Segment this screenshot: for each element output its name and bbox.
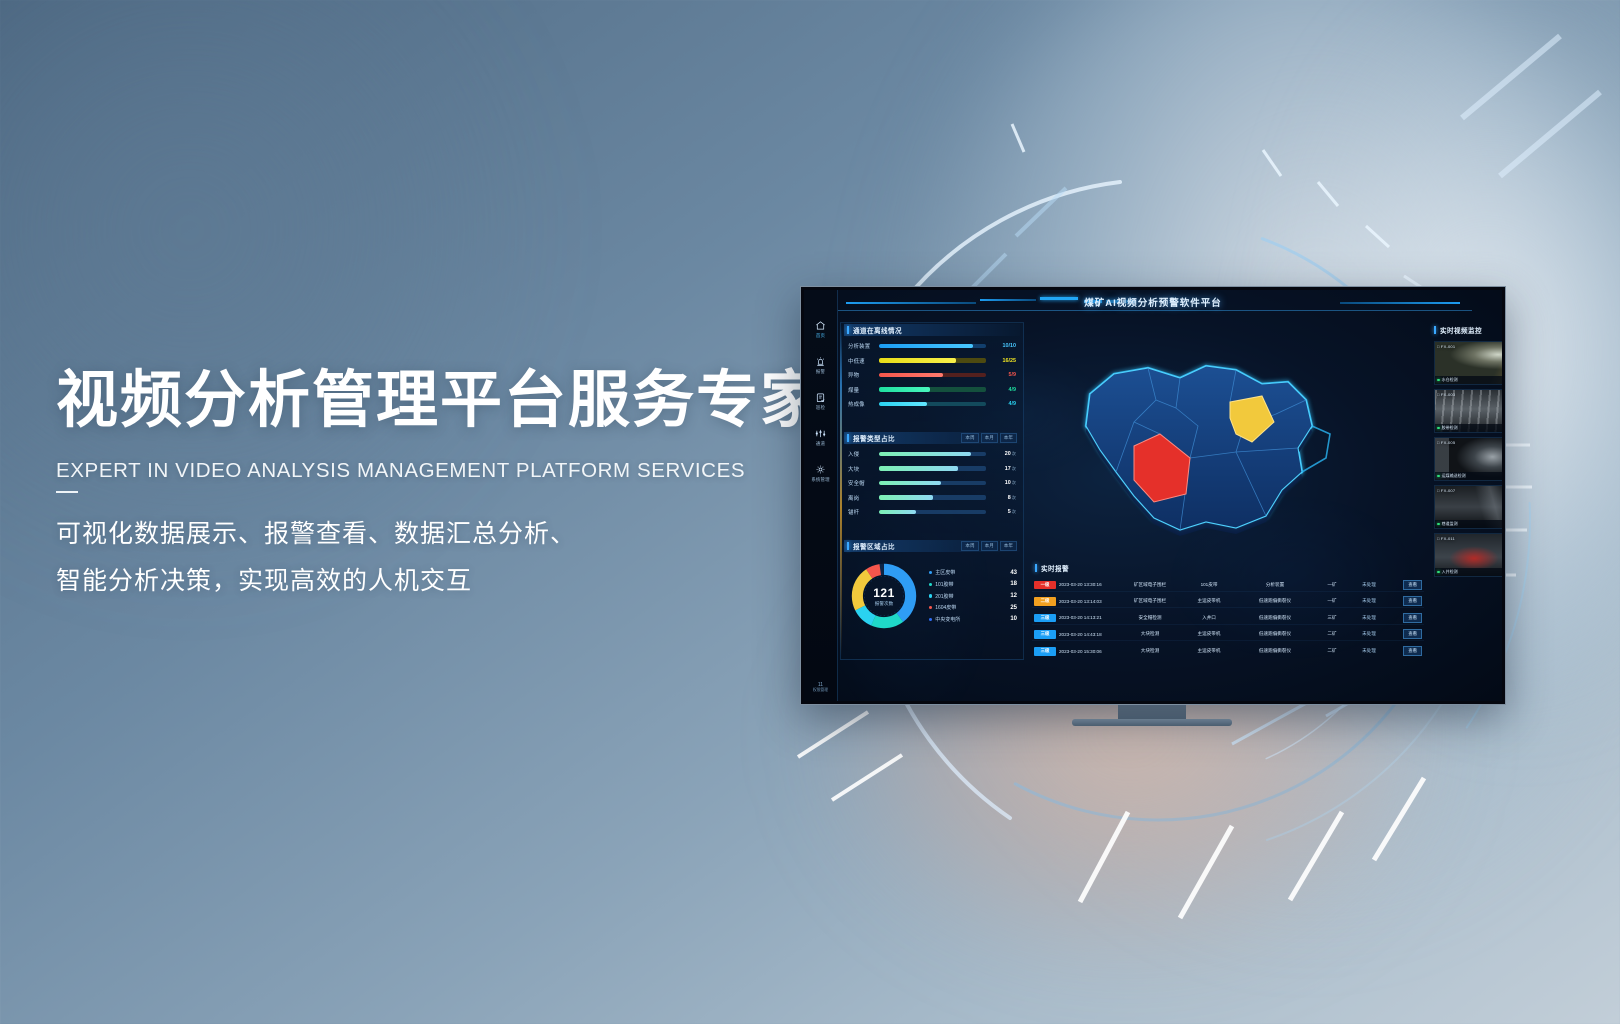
table-row[interactable]: 三级 2023-03-20 14:43:18 大块检测 主运皮带机 低速跑偏撕裂… bbox=[1032, 629, 1424, 642]
panel-accent-bar bbox=[847, 542, 849, 550]
channel-rows: 分析装置 10/10 中低速 16/25 异物 5/9 煤量 4/9 热成像 bbox=[844, 336, 1020, 410]
panel-live-video: 实时视频监控 上一页 下一页 □ FX-001 水仓检测 15:20:30 bbox=[1434, 324, 1502, 577]
alarm-mine: 二矿 bbox=[1315, 631, 1349, 637]
channel-row: 分析装置 10/10 bbox=[848, 342, 1016, 350]
legend-item: 主区皮带 43 bbox=[929, 569, 1017, 576]
alarm-time: 2023-03-20 14:13:21 bbox=[1059, 615, 1117, 620]
panel-alarm-type-ratio: 报警类型占比 本周 本月 本年 入侵 20次 大块 17次 安全帽 10次 bbox=[844, 432, 1020, 518]
table-row[interactable]: 一级 2023-03-20 13:30:16 矿区域电子围栏 101皮带 分析装… bbox=[1032, 579, 1424, 592]
sidebar-item-inspection[interactable]: 巡检 bbox=[815, 392, 826, 411]
panel-accent-bar bbox=[1035, 564, 1037, 572]
alarm-device: 低速跑偏撕裂仪 bbox=[1238, 615, 1312, 621]
alarm-time: 2023-03-20 15:30:06 bbox=[1059, 649, 1117, 654]
video-name: 运煤输送检测 bbox=[1442, 473, 1466, 479]
alarm-time: 2023-03-20 13:14:03 bbox=[1059, 599, 1117, 604]
alarm-state: 未处理 bbox=[1352, 582, 1386, 588]
dashboard-sidebar[interactable]: 首页 报警 巡检 通道 系统管理 11 bbox=[804, 290, 838, 701]
legend-dot bbox=[929, 594, 932, 597]
row-label: 煤量 bbox=[848, 386, 875, 394]
alarm-time: 2023-03-20 13:30:16 bbox=[1059, 582, 1117, 587]
progress-track bbox=[879, 510, 986, 515]
row-value: 10次 bbox=[990, 480, 1016, 486]
sidebar-item-system[interactable]: 系统管理 bbox=[811, 464, 829, 483]
legend-value: 10 bbox=[1010, 616, 1017, 622]
alarm-table: 一级 2023-03-20 13:30:16 矿区域电子围栏 101皮带 分析装… bbox=[1032, 574, 1424, 658]
legend-dot bbox=[929, 606, 932, 609]
panel-title: 通道在离线情况 bbox=[853, 325, 902, 335]
legend-label: 中央变电所 bbox=[935, 616, 1007, 623]
video-tag: □ FX-005 bbox=[1437, 440, 1455, 445]
video-tile[interactable]: □ FX-001 水仓检测 15:20:30 bbox=[1434, 341, 1502, 385]
video-tag: □ FX-003 bbox=[1437, 392, 1455, 397]
legend-item: 201胶带 12 bbox=[929, 593, 1017, 600]
row-label: 大块 bbox=[848, 465, 875, 473]
alarm-device: 低速跑偏撕裂仪 bbox=[1238, 598, 1312, 604]
sidebar-item-label: 系统管理 bbox=[811, 477, 829, 483]
alarm-location: 主运皮带机 bbox=[1183, 648, 1235, 654]
alarm-location: 101皮带 bbox=[1183, 582, 1235, 588]
panel-accent-bar bbox=[847, 326, 849, 334]
video-tag: □ FX-011 bbox=[1437, 536, 1455, 541]
row-value: 8次 bbox=[990, 495, 1016, 501]
tab-week[interactable]: 本周 bbox=[961, 433, 978, 443]
sidebar-item-label: 通道 bbox=[816, 441, 825, 447]
tab-year[interactable]: 本年 bbox=[1000, 433, 1017, 443]
legend-dot bbox=[929, 618, 932, 621]
legend-label: 1604皮带 bbox=[935, 604, 1007, 611]
page-title: 视频分析管理平台服务专家 bbox=[56, 368, 816, 433]
alarm-state: 未处理 bbox=[1352, 615, 1386, 621]
progress-track bbox=[879, 344, 986, 349]
status-dot bbox=[1437, 427, 1440, 430]
panel-title: 实时视频监控 bbox=[1440, 325, 1482, 335]
status-dot bbox=[1437, 523, 1440, 526]
status-dot bbox=[1437, 475, 1440, 478]
video-name: 巷道监测 bbox=[1442, 521, 1458, 527]
donut-total: 121 bbox=[873, 586, 895, 600]
gear-icon bbox=[815, 464, 826, 475]
row-value: 17次 bbox=[990, 466, 1016, 472]
sidebar-item-label: 报警 bbox=[816, 369, 825, 375]
channel-row: 煤量 4/9 bbox=[848, 386, 1016, 394]
alarm-mine: 一矿 bbox=[1315, 598, 1349, 604]
sidebar-item-label: 巡检 bbox=[816, 405, 825, 411]
alarm-type-row: 锚杆 5次 bbox=[848, 508, 1016, 516]
view-button[interactable]: 查看 bbox=[1403, 646, 1422, 656]
legend-dot bbox=[929, 583, 932, 586]
row-label: 离岗 bbox=[848, 494, 875, 502]
alarm-type: 矿区域电子围栏 bbox=[1120, 598, 1180, 604]
view-button[interactable]: 查看 bbox=[1403, 580, 1422, 590]
sidebar-item-alarm[interactable]: 报警 bbox=[815, 356, 826, 375]
region-map[interactable] bbox=[1030, 330, 1360, 560]
video-name: 胶带检测 bbox=[1442, 425, 1458, 431]
row-label: 分析装置 bbox=[848, 342, 875, 350]
alarm-type: 安全帽检测 bbox=[1120, 615, 1180, 621]
video-footer: 胶带检测 15:20:30 bbox=[1435, 424, 1502, 432]
channel-row: 异物 5/9 bbox=[848, 371, 1016, 379]
dashboard-screen: 煤矿AI视频分析预警软件平台 首页 报警 巡检 通道 bbox=[804, 290, 1502, 701]
view-button[interactable]: 查看 bbox=[1403, 596, 1422, 606]
table-row[interactable]: 三级 2023-03-20 14:13:21 安全帽检测 入井口 低速跑偏撕裂仪… bbox=[1032, 612, 1424, 625]
video-footer: 水仓检测 15:20:30 bbox=[1435, 376, 1502, 384]
row-label: 入侵 bbox=[848, 450, 875, 458]
hero-copy: 视频分析管理平台服务专家 EXPERT IN VIDEO ANALYSIS MA… bbox=[56, 368, 816, 602]
alarm-type: 矿区域电子围栏 bbox=[1120, 582, 1180, 588]
area-panel-body: 121 报警次数 主区皮带 43 101胶带 18 201胶带 bbox=[844, 552, 1020, 636]
alarm-type: 大块检测 bbox=[1120, 631, 1180, 637]
progress-track bbox=[879, 466, 986, 471]
legend-item: 1604皮带 25 bbox=[929, 604, 1017, 611]
row-label: 异物 bbox=[848, 371, 875, 379]
video-name: 入井检测 bbox=[1442, 569, 1458, 575]
legend-label: 主区皮带 bbox=[935, 569, 1007, 576]
alarm-type: 大块检测 bbox=[1120, 648, 1180, 654]
progress-track bbox=[879, 452, 986, 457]
panel-title: 实时报警 bbox=[1041, 563, 1069, 573]
tab-week[interactable]: 本周 bbox=[961, 541, 978, 551]
dashboard-header: 煤矿AI视频分析预警软件平台 bbox=[804, 290, 1502, 318]
alarm-device: 低速跑偏撕裂仪 bbox=[1238, 631, 1312, 637]
alarm-type-row: 入侵 20次 bbox=[848, 450, 1016, 458]
alarm-location: 主运皮带机 bbox=[1183, 598, 1235, 604]
row-value: 4/9 bbox=[990, 401, 1016, 407]
hero-paragraph-2: 智能分析决策，实现高效的人机交互 bbox=[56, 560, 816, 603]
tab-month[interactable]: 本月 bbox=[981, 433, 998, 443]
sidebar-item-channel[interactable]: 通道 bbox=[815, 428, 826, 447]
row-label: 安全帽 bbox=[848, 479, 875, 487]
donut-center-label: 121 报警次数 bbox=[847, 559, 921, 633]
alarm-mine: 三矿 bbox=[1315, 615, 1349, 621]
alarm-type-row: 安全帽 10次 bbox=[848, 479, 1016, 487]
progress-track bbox=[879, 387, 986, 392]
progress-track bbox=[879, 358, 986, 363]
alarm-type-rows: 入侵 20次 大块 17次 安全帽 10次 离岗 8次 锚杆 bbox=[844, 444, 1020, 518]
legend-value: 18 bbox=[1010, 581, 1017, 587]
table-row[interactable]: 二级 2023-03-20 13:14:03 矿区域电子围栏 主运皮带机 低速跑… bbox=[1032, 596, 1424, 609]
donut-caption: 报警次数 bbox=[875, 601, 893, 607]
sidebar-footer: 11 权限管理 bbox=[813, 682, 828, 693]
video-tile[interactable]: □ FX-003 胶带检测 15:20:30 bbox=[1434, 389, 1502, 433]
panel-title: 报警区域占比 bbox=[853, 541, 895, 551]
channel-row: 热成像 4/9 bbox=[848, 400, 1016, 408]
row-value: 5次 bbox=[990, 509, 1016, 515]
view-button[interactable]: 查看 bbox=[1403, 613, 1422, 623]
video-footer: 巷道监测 15:20:30 bbox=[1435, 520, 1502, 528]
row-value: 10/10 bbox=[990, 343, 1016, 349]
panel-alarm-area-ratio: 报警区域占比 本周 本月 本年 121 bbox=[844, 540, 1020, 636]
progress-track bbox=[879, 373, 986, 378]
row-value: 20次 bbox=[990, 451, 1016, 457]
legend-item: 中央变电所 10 bbox=[929, 616, 1017, 623]
row-label: 锚杆 bbox=[848, 508, 875, 516]
period-tabs[interactable]: 本周 本月 本年 bbox=[961, 541, 1020, 551]
video-tag: □ FX-007 bbox=[1437, 488, 1455, 493]
row-value: 16/25 bbox=[990, 358, 1016, 364]
tab-year[interactable]: 本年 bbox=[1000, 541, 1017, 551]
view-button[interactable]: 查看 bbox=[1403, 629, 1422, 639]
panel-channel-status: 通道在离线情况 分析装置 10/10 中低速 16/25 异物 5/9 煤量 4… bbox=[844, 324, 1020, 410]
alarm-type-row: 大块 17次 bbox=[848, 465, 1016, 473]
video-tile[interactable]: □ FX-005 运煤输送检测 15:20:30 bbox=[1434, 437, 1502, 481]
alarm-state: 未处理 bbox=[1352, 631, 1386, 637]
panel-title: 报警类型占比 bbox=[853, 433, 895, 443]
panel-header: 报警区域占比 本周 本月 本年 bbox=[844, 540, 1020, 552]
clipboard-check-icon bbox=[815, 392, 826, 403]
row-label: 热成像 bbox=[848, 400, 875, 408]
period-tabs[interactable]: 本周 本月 本年 bbox=[961, 433, 1020, 443]
legend-value: 43 bbox=[1010, 570, 1017, 576]
donut-chart: 121 报警次数 bbox=[847, 559, 921, 633]
alarm-location: 主运皮带机 bbox=[1183, 631, 1235, 637]
video-tile[interactable]: □ FX-011 入井检测 15:20:30 bbox=[1434, 533, 1502, 577]
panel-accent-bar bbox=[1434, 326, 1436, 334]
table-row[interactable]: 三级 2023-03-20 15:30:06 大块检测 主运皮带机 低速跑偏撕裂… bbox=[1032, 645, 1424, 658]
channel-icon bbox=[815, 428, 826, 439]
monitor-stand-base bbox=[1072, 719, 1232, 726]
monitor-bezel: 煤矿AI视频分析预警软件平台 首页 报警 巡检 通道 bbox=[800, 286, 1506, 705]
progress-track bbox=[879, 402, 986, 407]
progress-track bbox=[879, 481, 986, 486]
sidebar-footer-label: 权限管理 bbox=[813, 688, 828, 693]
alarm-time: 2023-03-20 14:43:18 bbox=[1059, 632, 1117, 637]
row-value: 5/9 bbox=[990, 372, 1016, 378]
tab-month[interactable]: 本月 bbox=[981, 541, 998, 551]
left-column-accent bbox=[840, 326, 842, 656]
channel-row: 中低速 16/25 bbox=[848, 357, 1016, 365]
video-tile[interactable]: □ FX-007 巷道监测 15:20:30 bbox=[1434, 485, 1502, 529]
panel-realtime-alarm: 实时报警 一级 2023-03-20 13:30:16 矿区域电子围栏 101皮… bbox=[1032, 562, 1424, 658]
divider bbox=[56, 491, 78, 493]
hero-subtitle: EXPERT IN VIDEO ANALYSIS MANAGEMENT PLAT… bbox=[56, 459, 816, 483]
panel-header: 实时视频监控 上一页 下一页 bbox=[1434, 324, 1502, 336]
video-grid: □ FX-001 水仓检测 15:20:30 □ FX-002 智能识别检测 1… bbox=[1434, 341, 1502, 577]
panel-header: 报警类型占比 本周 本月 本年 bbox=[844, 432, 1020, 444]
alarm-state: 未处理 bbox=[1352, 648, 1386, 654]
alarm-mine: 一矿 bbox=[1315, 582, 1349, 588]
alarm-device: 低速跑偏撕裂仪 bbox=[1238, 648, 1312, 654]
alarm-device: 分析装置 bbox=[1238, 582, 1312, 588]
hero-paragraph-1: 可视化数据展示、报警查看、数据汇总分析、 bbox=[56, 513, 816, 556]
alarm-mine: 二矿 bbox=[1315, 648, 1349, 654]
status-badge: 三级 bbox=[1034, 614, 1056, 623]
dashboard-title: 煤矿AI视频分析预警软件平台 bbox=[804, 295, 1502, 309]
legend-value: 12 bbox=[1010, 593, 1017, 599]
legend-item: 101胶带 18 bbox=[929, 581, 1017, 588]
alarm-state: 未处理 bbox=[1352, 598, 1386, 604]
panel-accent-bar bbox=[847, 434, 849, 442]
sidebar-item-home[interactable]: 首页 bbox=[815, 320, 826, 339]
video-footer: 运煤输送检测 15:20:30 bbox=[1435, 472, 1502, 480]
panel-header: 实时报警 bbox=[1032, 562, 1424, 574]
legend-label: 201胶带 bbox=[935, 593, 1007, 600]
alarm-light-icon bbox=[815, 356, 826, 367]
status-dot bbox=[1437, 571, 1440, 574]
sidebar-item-label: 首页 bbox=[816, 333, 825, 339]
panel-header: 通道在离线情况 bbox=[844, 324, 1020, 336]
status-badge: 一级 bbox=[1034, 581, 1056, 590]
status-badge: 三级 bbox=[1034, 647, 1056, 656]
row-value: 4/9 bbox=[990, 387, 1016, 393]
map-svg bbox=[1030, 330, 1360, 560]
video-name: 水仓检测 bbox=[1442, 377, 1458, 383]
legend-dot bbox=[929, 571, 932, 574]
legend-label: 101胶带 bbox=[935, 581, 1007, 588]
donut-legend: 主区皮带 43 101胶带 18 201胶带 12 1604皮带 25 bbox=[927, 569, 1017, 622]
video-footer: 入井检测 15:20:30 bbox=[1435, 568, 1502, 576]
status-badge: 二级 bbox=[1034, 597, 1056, 606]
video-tag: □ FX-001 bbox=[1437, 344, 1455, 349]
progress-track bbox=[879, 495, 986, 500]
alarm-type-row: 离岗 8次 bbox=[848, 494, 1016, 502]
legend-value: 25 bbox=[1010, 605, 1017, 611]
row-label: 中低速 bbox=[848, 357, 875, 365]
status-badge: 三级 bbox=[1034, 630, 1056, 639]
home-icon bbox=[815, 320, 826, 331]
alarm-location: 入井口 bbox=[1183, 615, 1235, 621]
status-dot bbox=[1437, 379, 1440, 382]
